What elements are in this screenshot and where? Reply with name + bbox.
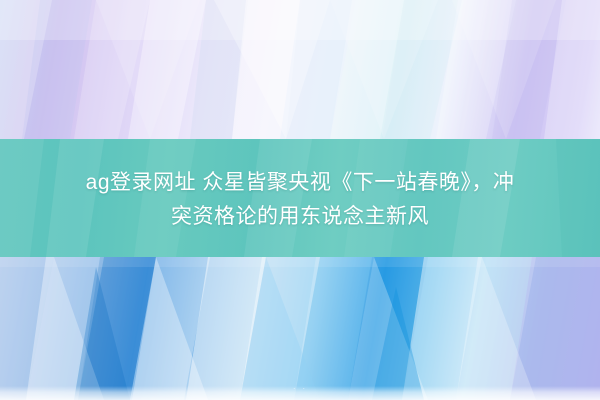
banner-image: ag登录网址 众星皆聚央视《下一站春晚》，冲 突资格论的用东说念主新风 · · [0,0,600,400]
bottom-chevron-overlay [0,257,600,400]
top-gradient-panel [0,0,600,139]
headline-line-2: 突资格论的用东说念主新风 [171,200,429,234]
headline-text: ag登录网址 众星皆聚央视《下一站春晚》，冲 突资格论的用东说念主新风 [0,157,600,243]
bottom-gradient-panel [0,257,600,400]
top-shard-overlay [0,0,600,139]
headline-line-1: ag登录网址 众星皆聚央视《下一站春晚》，冲 [86,166,515,200]
bottom-fade-strip [0,386,600,400]
